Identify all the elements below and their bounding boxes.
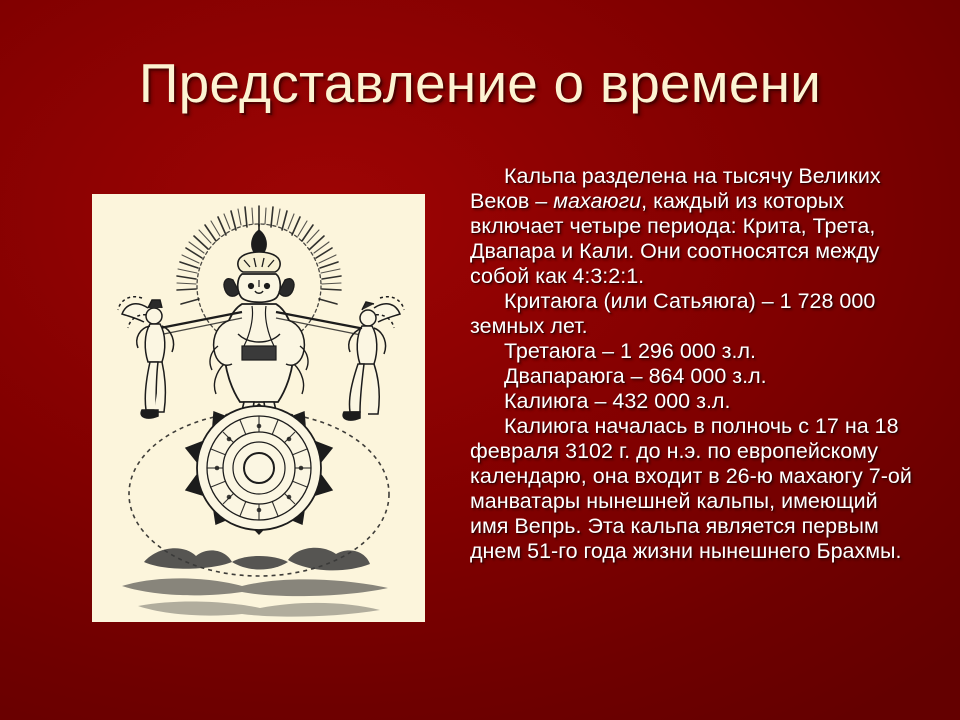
slide-title-area: Представление о времени [0, 44, 960, 124]
slide-body-text: Кальпа разделена на тысячу Великих Веков… [470, 164, 920, 564]
paragraph-run-text: Калиюга началась в полночь с 17 на 18 фе… [470, 414, 912, 563]
presentation-slide: Представление о времени [0, 0, 960, 720]
deity-engraving-svg [92, 194, 425, 622]
body-paragraph-2: Критаюга (или Сатьяюга) – 1 728 000 земн… [470, 289, 920, 339]
body-paragraph-5: Калиюга – 432 000 з.л. [470, 389, 920, 414]
paragraph-run-text: Двапараюга – 864 000 з.л. [504, 364, 767, 388]
body-paragraph-1: Кальпа разделена на тысячу Великих Веков… [470, 164, 920, 289]
body-paragraph-3: Третаюга – 1 296 000 з.л. [470, 339, 920, 364]
paragraph-run-text: Третаюга – 1 296 000 з.л. [504, 339, 756, 363]
paragraph-run-text: Критаюга (или Сатьяюга) – 1 728 000 земн… [470, 289, 875, 338]
body-paragraph-6: Калиюга началась в полночь с 17 на 18 фе… [470, 414, 920, 564]
page-title: Представление о времени [139, 55, 821, 113]
paragraph-run-text: Калиюга – 432 000 з.л. [504, 389, 730, 413]
body-paragraph-4: Двапараюга – 864 000 з.л. [470, 364, 920, 389]
illustration-image [92, 194, 425, 622]
paragraph-run-italic-mahayugi: махаюги [553, 189, 641, 213]
